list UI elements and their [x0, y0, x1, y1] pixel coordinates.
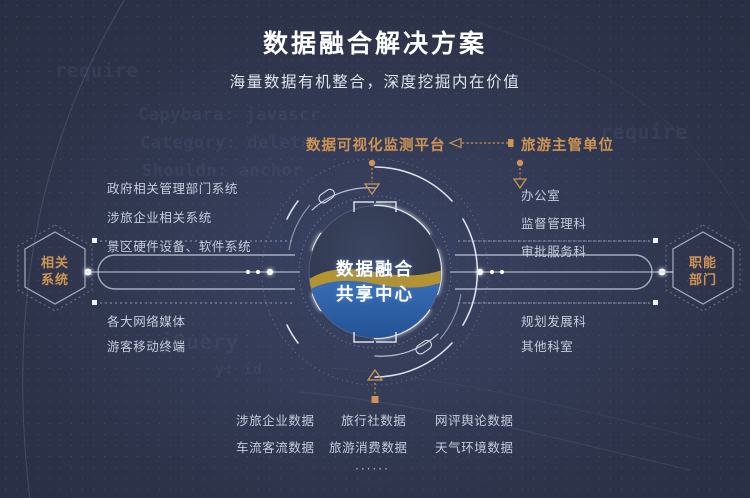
marker-platform-down — [365, 160, 379, 194]
infographic-canvas: require Capybara: javascr Category: dele… — [0, 0, 750, 498]
left-item-2[interactable]: 景区硬件设备、软件系统 — [107, 236, 251, 255]
core-line1: 数据融合 — [285, 258, 465, 283]
page-title: 数据融合解决方案 — [0, 24, 750, 60]
bottom-item-r1c1[interactable]: 旅游消费数据 — [329, 437, 408, 456]
page-subtitle: 海量数据有机整合，深度挖掘内在价值 — [0, 70, 750, 92]
hexagon-right-line1: 职能 — [658, 255, 748, 272]
left-item-1[interactable]: 涉旅企业相关系统 — [107, 207, 212, 226]
hexagon-left-label[interactable]: 相关 系统 — [10, 255, 100, 289]
bottom-item-r1c2[interactable]: 天气环境数据 — [435, 437, 514, 456]
marker-authority-down — [514, 160, 526, 188]
right-item-4[interactable]: 其他科室 — [521, 336, 573, 355]
right-item-1[interactable]: 监督管理科 — [521, 213, 587, 232]
hexagon-left-line2: 系统 — [10, 272, 100, 289]
hexagon-right-line2: 部门 — [658, 272, 748, 289]
bottom-ellipsis: ······ — [355, 462, 390, 476]
marker-bottom-up — [368, 370, 382, 403]
core-line2: 共享中心 — [285, 283, 465, 308]
hexagon-left-line1: 相关 — [10, 255, 100, 272]
right-item-0[interactable]: 办公室 — [521, 185, 560, 204]
hexagon-right-label[interactable]: 职能 部门 — [658, 255, 748, 289]
core-hub-label[interactable]: 数据融合 共享中心 — [285, 258, 465, 308]
label-tourism-authority[interactable]: 旅游主管单位 — [521, 134, 614, 155]
left-item-4[interactable]: 游客移动终端 — [107, 336, 186, 355]
left-item-3[interactable]: 各大网络媒体 — [107, 311, 186, 330]
bottom-item-r0c2[interactable]: 网评舆论数据 — [435, 410, 514, 429]
top-connector-arrow — [450, 139, 514, 148]
bottom-item-r1c0[interactable]: 车流客流数据 — [236, 437, 315, 456]
left-item-0[interactable]: 政府相关管理部门系统 — [107, 178, 238, 197]
bottom-item-r0c0[interactable]: 涉旅企业数据 — [236, 410, 315, 429]
right-item-2[interactable]: 审批服务科 — [521, 241, 587, 260]
bottom-item-r0c1[interactable]: 旅行社数据 — [341, 410, 407, 429]
right-item-3[interactable]: 规划发展科 — [521, 311, 587, 330]
label-visualization-platform[interactable]: 数据可视化监测平台 — [306, 134, 446, 155]
